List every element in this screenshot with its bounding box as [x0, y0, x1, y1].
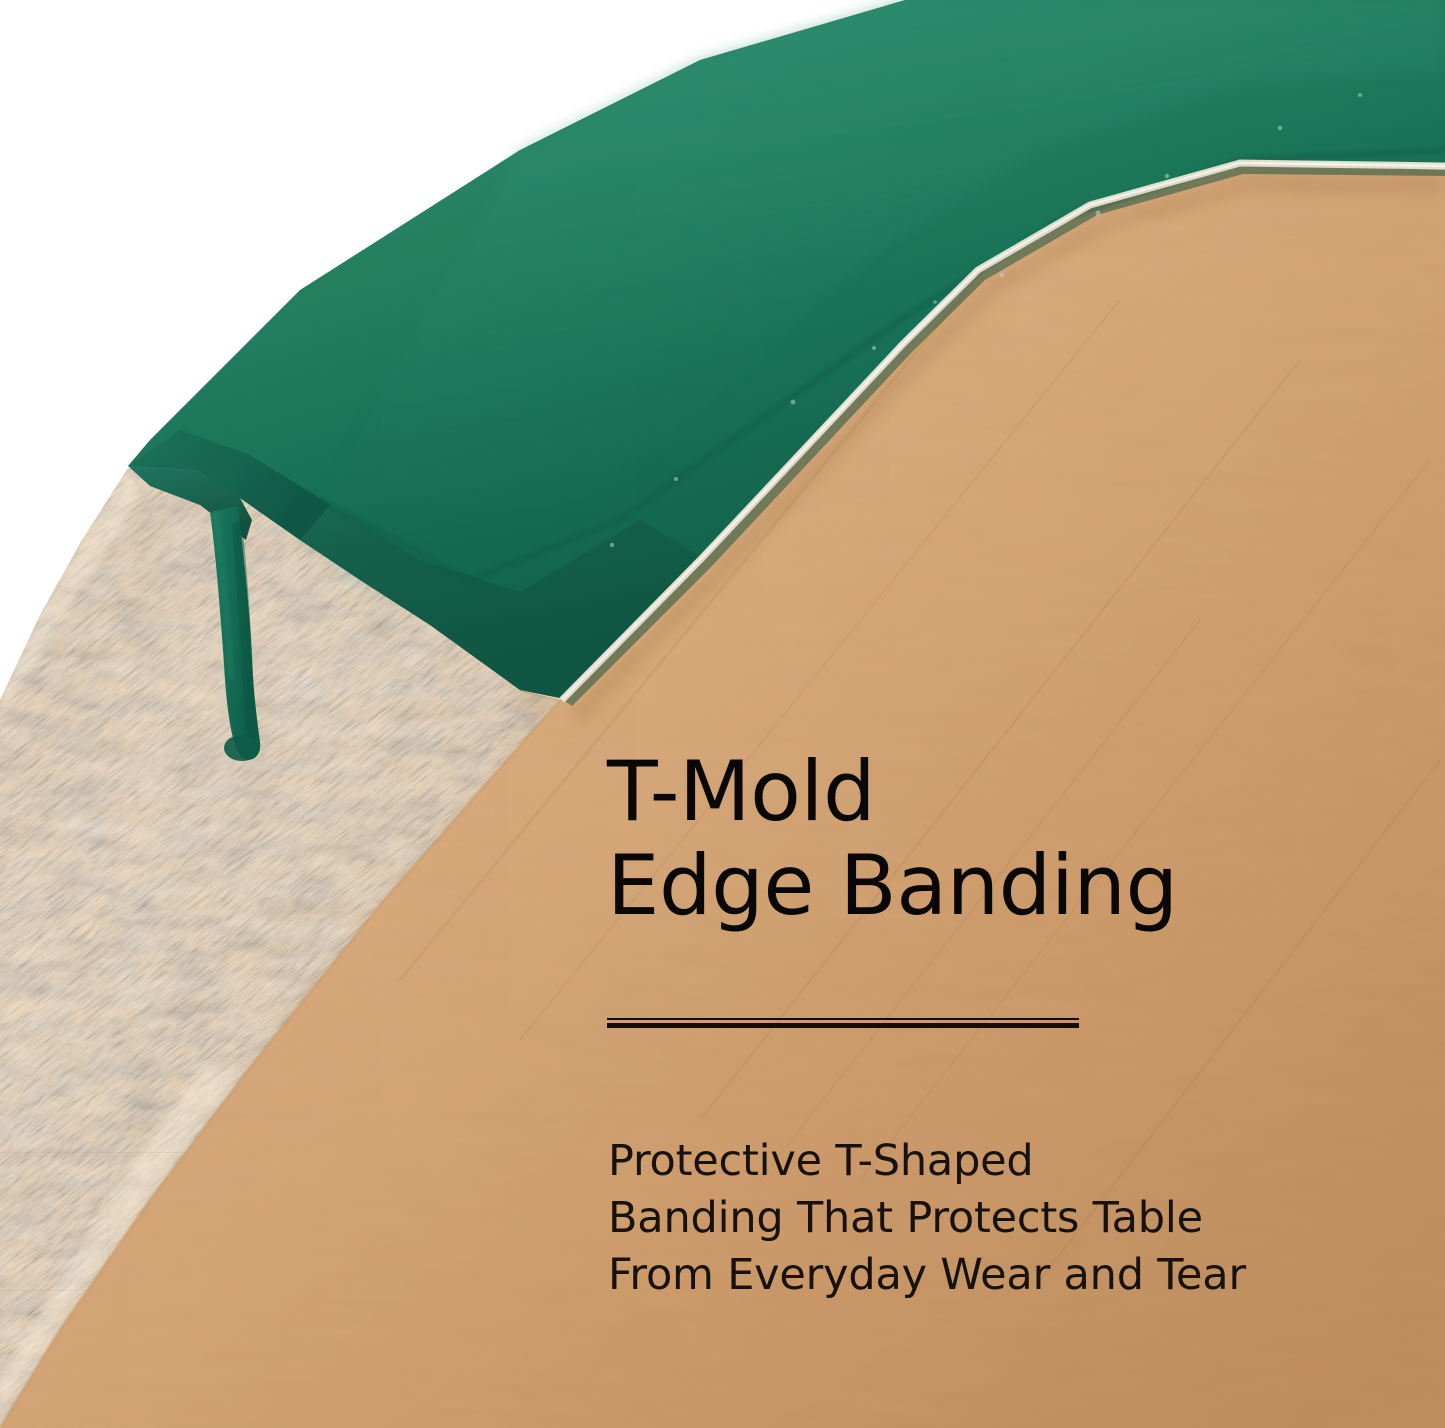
headline-block: T-Mold Edge Banding	[607, 745, 1307, 933]
subtitle-line-1: Protective T-Shaped	[608, 1133, 1368, 1190]
divider-rule-thick	[607, 1023, 1079, 1028]
subtitle-line-3: From Everyday Wear and Tear	[608, 1247, 1368, 1304]
product-image-canvas: T-Mold Edge Banding Protective T-Shaped …	[0, 0, 1445, 1428]
divider-rule-thin	[607, 1018, 1079, 1020]
subtitle-block: Protective T-Shaped Banding That Protect…	[608, 1133, 1368, 1305]
headline-line-2: Edge Banding	[607, 839, 1307, 933]
subtitle-line-2: Banding That Protects Table	[608, 1190, 1368, 1247]
headline-line-1: T-Mold	[607, 745, 1307, 839]
headline-divider	[607, 1018, 1079, 1029]
